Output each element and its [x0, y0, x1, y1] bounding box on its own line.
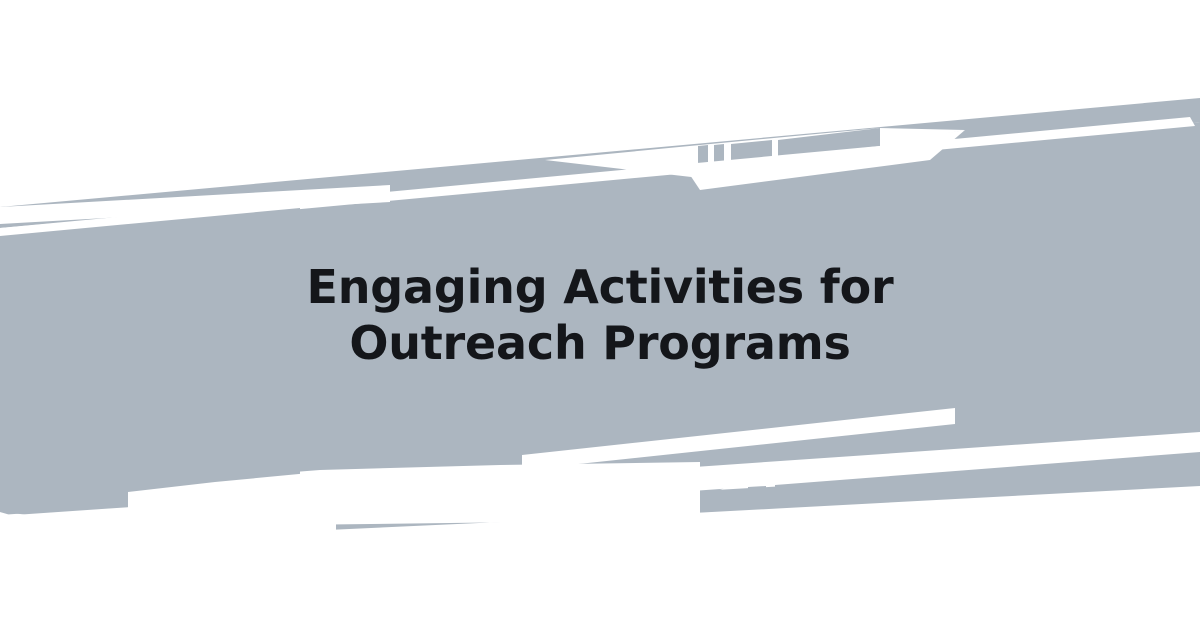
- banner-root: Engaging Activities for Outreach Program…: [0, 0, 1200, 630]
- bottom-left-fill: [0, 208, 300, 518]
- decorative-background-art: [0, 0, 1200, 630]
- dash-mark-1: [698, 145, 708, 164]
- dash-mark-2: [714, 144, 724, 163]
